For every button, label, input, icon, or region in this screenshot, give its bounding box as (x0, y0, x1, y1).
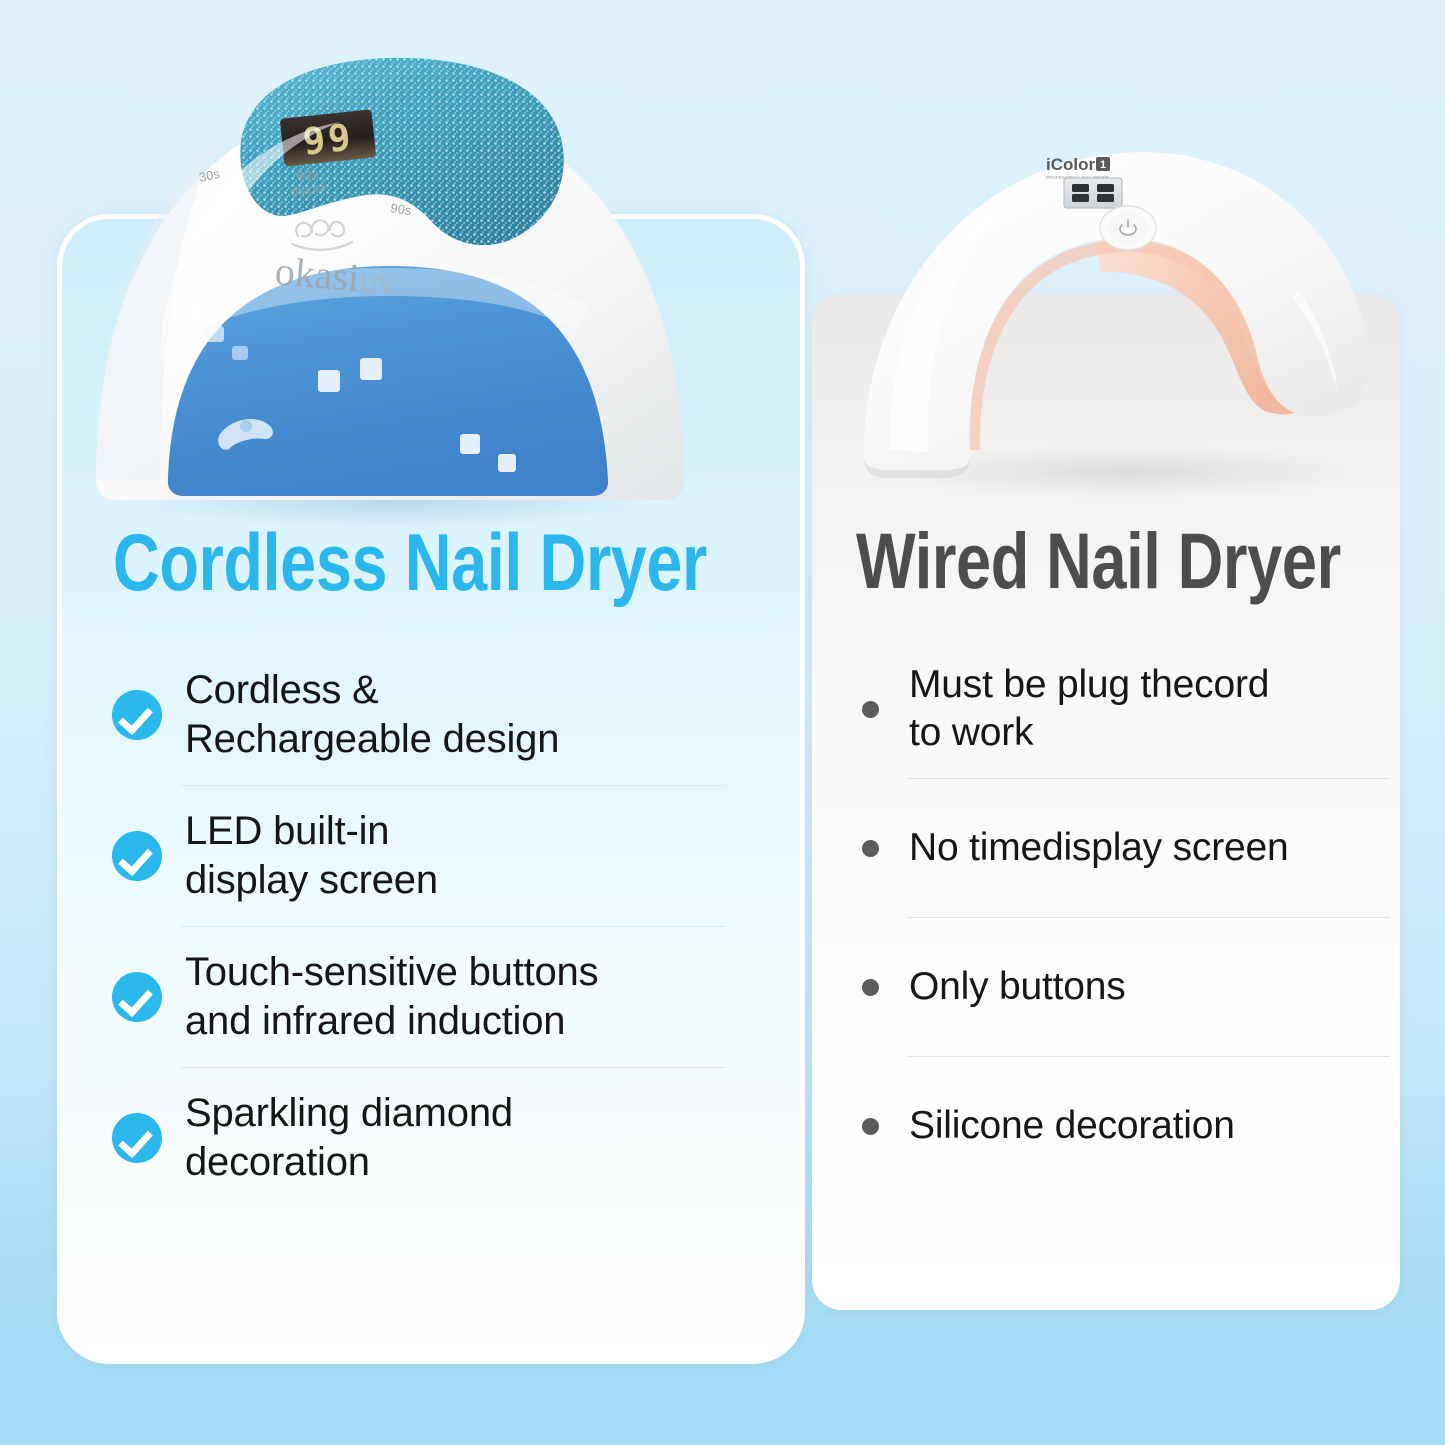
bullet-dot-icon (862, 840, 879, 857)
svg-text:60s: 60s (295, 166, 319, 184)
wired-lamp-product-image: iColor 1 PROFESSIONAL NAIL DRYER (828, 120, 1408, 510)
list-item: Cordless & Rechargeable design (112, 645, 732, 785)
bullet-dot-icon (862, 1118, 879, 1135)
list-item-label: Cordless & Rechargeable design (185, 666, 559, 764)
check-circle-icon (112, 831, 162, 881)
list-item: No timedisplay screen (862, 779, 1362, 917)
svg-text:99: 99 (301, 115, 356, 163)
list-item: Only buttons (862, 918, 1362, 1056)
bullet-dot-icon (862, 701, 879, 718)
wired-feature-list: Must be plug thecord to work No timedisp… (862, 640, 1362, 1195)
cordless-feature-list: Cordless & Rechargeable design LED built… (112, 645, 732, 1208)
list-item-label: Sparkling diamond decoration (185, 1089, 513, 1187)
list-item: Sparkling diamond decoration (112, 1068, 732, 1208)
list-item-label: Touch-sensitive buttons and infrared ind… (185, 948, 598, 1046)
right-column-title: Wired Nail Dryer (856, 519, 1341, 603)
svg-text:iColor: iColor (1046, 155, 1095, 174)
left-column-title: Cordless Nail Dryer (113, 520, 707, 606)
list-item-label: Silicone decoration (909, 1102, 1235, 1150)
bullet-dot-icon (862, 979, 879, 996)
list-item-label: Must be plug thecord to work (909, 661, 1269, 757)
comparison-infographic: 99 30s 60s ON/OFF 90s okasiUV (0, 0, 1445, 1445)
list-item: Touch-sensitive buttons and infrared ind… (112, 927, 732, 1067)
svg-text:1: 1 (1100, 159, 1106, 171)
list-item-label: No timedisplay screen (909, 824, 1288, 872)
list-item: Silicone decoration (862, 1057, 1362, 1195)
list-item-label: Only buttons (909, 963, 1126, 1011)
list-item: LED built-in display screen (112, 786, 732, 926)
check-circle-icon (112, 690, 162, 740)
check-circle-icon (112, 972, 162, 1022)
check-circle-icon (112, 1113, 162, 1163)
cordless-lamp-product-image: 99 30s 60s ON/OFF 90s okasiUV (60, 30, 740, 530)
list-item-label: LED built-in display screen (185, 807, 438, 905)
list-item: Must be plug thecord to work (862, 640, 1362, 778)
